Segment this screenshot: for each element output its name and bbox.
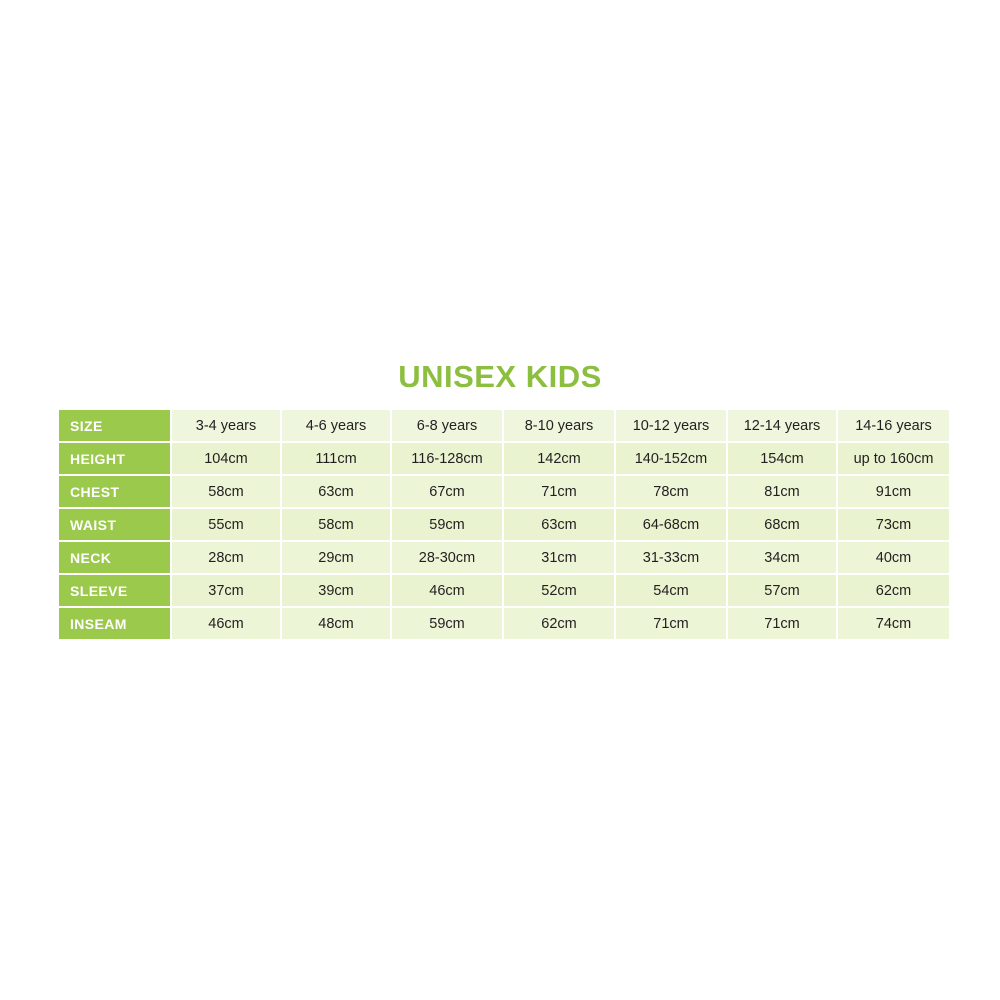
table-cell: 63cm — [504, 509, 614, 540]
table-cell: 31cm — [504, 542, 614, 573]
column-header-cell: 4-6 years — [282, 410, 390, 441]
table-cell: 29cm — [282, 542, 390, 573]
column-header-cell: 12-14 years — [728, 410, 836, 441]
table-row: NECK 28cm 29cm 28-30cm 31cm 31-33cm 34cm… — [59, 542, 949, 573]
table-row: HEIGHT 104cm 111cm 116-128cm 142cm 140-1… — [59, 443, 949, 474]
column-header-cell: 10-12 years — [616, 410, 726, 441]
table-cell: 46cm — [172, 608, 280, 639]
size-chart-table: SIZE 3-4 years 4-6 years 6-8 years 8-10 … — [57, 408, 951, 641]
table-cell: 28-30cm — [392, 542, 502, 573]
table-cell: 48cm — [282, 608, 390, 639]
table-row: WAIST 55cm 58cm 59cm 63cm 64-68cm 68cm 7… — [59, 509, 949, 540]
table-cell: 57cm — [728, 575, 836, 606]
table-cell: 58cm — [172, 476, 280, 507]
row-header-size: SIZE — [59, 410, 170, 441]
table-cell: 55cm — [172, 509, 280, 540]
table-cell: 73cm — [838, 509, 949, 540]
column-header-cell: 6-8 years — [392, 410, 502, 441]
table-cell: 59cm — [392, 509, 502, 540]
table-cell: 68cm — [728, 509, 836, 540]
table-cell: 52cm — [504, 575, 614, 606]
table-cell: 71cm — [728, 608, 836, 639]
column-header-cell: 14-16 years — [838, 410, 949, 441]
row-header-height: HEIGHT — [59, 443, 170, 474]
table-cell: 71cm — [616, 608, 726, 639]
size-chart-page: UNISEX KIDS SIZE 3-4 years 4-6 years 6-8… — [0, 0, 1000, 1000]
table-cell: 74cm — [838, 608, 949, 639]
row-header-waist: WAIST — [59, 509, 170, 540]
table-cell: up to 160cm — [838, 443, 949, 474]
table-header-row: SIZE 3-4 years 4-6 years 6-8 years 8-10 … — [59, 410, 949, 441]
row-header-neck: NECK — [59, 542, 170, 573]
table-cell: 81cm — [728, 476, 836, 507]
table-row: CHEST 58cm 63cm 67cm 71cm 78cm 81cm 91cm — [59, 476, 949, 507]
table-row: SLEEVE 37cm 39cm 46cm 52cm 54cm 57cm 62c… — [59, 575, 949, 606]
table-cell: 62cm — [504, 608, 614, 639]
table-cell: 116-128cm — [392, 443, 502, 474]
table-cell: 111cm — [282, 443, 390, 474]
table-cell: 91cm — [838, 476, 949, 507]
table-cell: 59cm — [392, 608, 502, 639]
table-cell: 28cm — [172, 542, 280, 573]
table-cell: 58cm — [282, 509, 390, 540]
table-cell: 63cm — [282, 476, 390, 507]
table-cell: 64-68cm — [616, 509, 726, 540]
table-cell: 67cm — [392, 476, 502, 507]
table-cell: 46cm — [392, 575, 502, 606]
row-header-chest: CHEST — [59, 476, 170, 507]
table-cell: 142cm — [504, 443, 614, 474]
column-header-cell: 8-10 years — [504, 410, 614, 441]
table-cell: 40cm — [838, 542, 949, 573]
table-cell: 154cm — [728, 443, 836, 474]
row-header-inseam: INSEAM — [59, 608, 170, 639]
table-cell: 31-33cm — [616, 542, 726, 573]
table-cell: 104cm — [172, 443, 280, 474]
table-cell: 71cm — [504, 476, 614, 507]
page-title: UNISEX KIDS — [57, 358, 943, 396]
table-cell: 37cm — [172, 575, 280, 606]
table-cell: 54cm — [616, 575, 726, 606]
table-cell: 34cm — [728, 542, 836, 573]
table-row: INSEAM 46cm 48cm 59cm 62cm 71cm 71cm 74c… — [59, 608, 949, 639]
row-header-sleeve: SLEEVE — [59, 575, 170, 606]
table-cell: 140-152cm — [616, 443, 726, 474]
table-cell: 39cm — [282, 575, 390, 606]
table-cell: 62cm — [838, 575, 949, 606]
size-chart-body: SIZE 3-4 years 4-6 years 6-8 years 8-10 … — [59, 410, 949, 639]
column-header-cell: 3-4 years — [172, 410, 280, 441]
table-cell: 78cm — [616, 476, 726, 507]
